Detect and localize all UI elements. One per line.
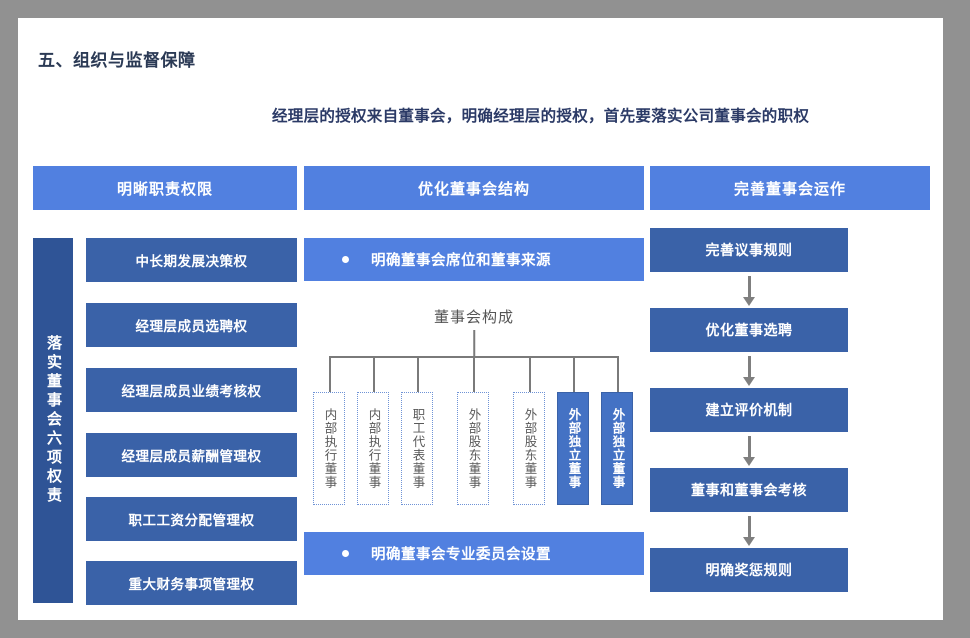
- structure-bullet-1-label: 明确董事会席位和董事来源: [371, 249, 551, 270]
- duty-item-1[interactable]: 中长期发展决策权: [86, 238, 297, 282]
- duty-item-4[interactable]: 经理层成员薪酬管理权: [86, 433, 297, 477]
- structure-bullet-2[interactable]: 明确董事会专业委员会设置: [304, 532, 644, 575]
- org-node-2[interactable]: 内部执行董事: [357, 392, 389, 505]
- org-drop-line-4: [473, 356, 475, 392]
- org-node-4[interactable]: 外部股东董事: [457, 392, 489, 505]
- page-title: 五、组织与监督保障: [38, 46, 196, 71]
- structure-bullet-2-label: 明确董事会专业委员会设置: [371, 543, 551, 564]
- org-drop-line-5: [529, 356, 531, 392]
- org-drop-line-6: [573, 356, 575, 392]
- operation-item-4[interactable]: 董事和董事会考核: [650, 468, 848, 512]
- operation-item-2[interactable]: 优化董事选聘: [650, 308, 848, 352]
- column-header-3[interactable]: 完善董事会运作: [650, 166, 930, 210]
- org-chart-connectors: [304, 330, 644, 392]
- org-chart-nodes: 内部执行董事 内部执行董事 职工代表董事 外部股东董事 外部股东董事 外部独立董…: [304, 392, 644, 512]
- org-node-7[interactable]: 外部独立董事: [601, 392, 633, 505]
- org-drop-line-2: [373, 356, 375, 392]
- bullet-dot-icon: [342, 550, 349, 557]
- duty-item-6[interactable]: 重大财务事项管理权: [86, 561, 297, 605]
- org-node-6[interactable]: 外部独立董事: [557, 392, 589, 505]
- flow-arrow-4-icon: [742, 516, 756, 546]
- duty-item-2[interactable]: 经理层成员选聘权: [86, 303, 297, 347]
- operation-item-5[interactable]: 明确奖惩规则: [650, 548, 848, 592]
- duty-item-5[interactable]: 职工工资分配管理权: [86, 497, 297, 541]
- bullet-dot-icon: [342, 256, 349, 263]
- org-node-5[interactable]: 外部股东董事: [513, 392, 545, 505]
- org-drop-line-7: [617, 356, 619, 392]
- column-header-1[interactable]: 明晰职责权限: [33, 166, 297, 210]
- duty-item-3[interactable]: 经理层成员业绩考核权: [86, 368, 297, 412]
- flow-arrow-1-icon: [742, 276, 756, 306]
- operation-item-3[interactable]: 建立评价机制: [650, 388, 848, 432]
- org-drop-line-3: [417, 356, 419, 392]
- org-node-3[interactable]: 职工代表董事: [401, 392, 433, 505]
- column-header-2[interactable]: 优化董事会结构: [304, 166, 644, 210]
- flow-arrow-3-icon: [742, 436, 756, 466]
- org-node-1[interactable]: 内部执行董事: [313, 392, 345, 505]
- org-chart-title: 董事会构成: [304, 306, 644, 327]
- slide-canvas: 五、组织与监督保障 经理层的授权来自董事会，明确经理层的授权，首先要落实公司董事…: [18, 18, 943, 620]
- sidebar-vertical-label: 落实董事会六项权责: [33, 238, 73, 603]
- operation-item-1[interactable]: 完善议事规则: [650, 228, 848, 272]
- structure-bullet-1[interactable]: 明确董事会席位和董事来源: [304, 238, 644, 281]
- org-drop-line-1: [329, 356, 331, 392]
- org-stem-line: [473, 330, 475, 356]
- flow-arrow-2-icon: [742, 356, 756, 386]
- page-subtitle: 经理层的授权来自董事会，明确经理层的授权，首先要落实公司董事会的职权: [272, 104, 809, 126]
